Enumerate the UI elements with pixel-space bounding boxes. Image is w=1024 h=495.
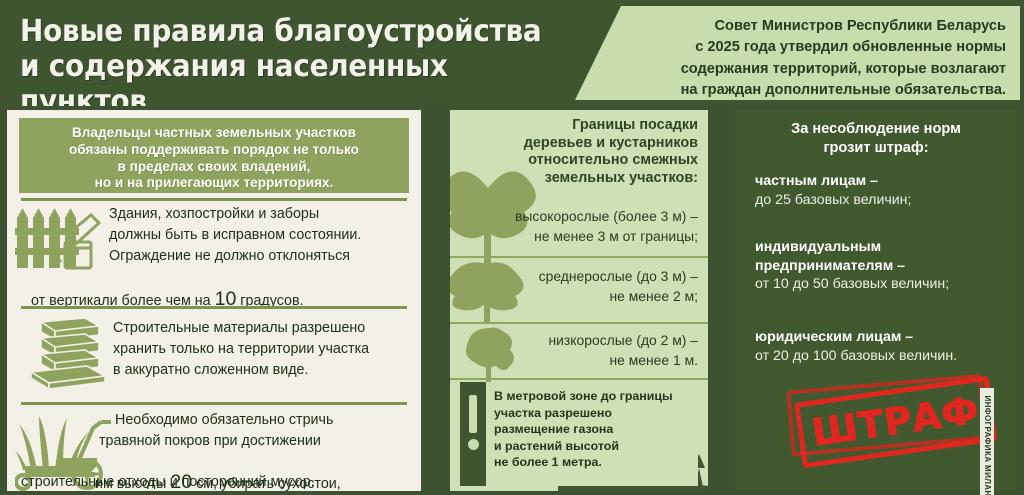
middle-divider-3 bbox=[450, 378, 708, 380]
header-note-panel: Совет Министров Республики Беларусь с 20… bbox=[575, 6, 1020, 100]
middle-row-medium: среднерослые (до 3 м) – не менее 2 м; bbox=[450, 258, 708, 320]
left-block-mower-line4: строительные отходы и посторонний мусор. bbox=[21, 472, 419, 493]
columns-container: Владельцы частных земельных участков обя… bbox=[0, 106, 1024, 495]
left-block-materials-text: Строительные материалы разрешено хранить… bbox=[113, 318, 413, 381]
penalty-item-legal: юридическим лицам – от 20 до 100 базовых… bbox=[755, 328, 1005, 366]
exclamation-dot bbox=[468, 439, 479, 450]
exclamation-stem bbox=[469, 395, 477, 433]
middle-row-small: низкорослые (до 2 м) – не менее 1 м. bbox=[450, 324, 708, 380]
penalty-label-private: частным лицам – bbox=[755, 172, 1005, 191]
divider-1 bbox=[21, 198, 407, 201]
penalty-item-entrepreneurs: индивидуальным предпринимателям – от 10 … bbox=[755, 238, 1005, 295]
middle-row-tall-text: высокорослые (более 3 м) – не менее 3 м … bbox=[498, 206, 698, 246]
penalty-value-entrepreneurs: от 10 до 50 базовых величин; bbox=[755, 275, 1005, 295]
penalties-heading: За несоблюдение норм грозит штраф: bbox=[735, 120, 1017, 157]
exclamation-icon bbox=[460, 382, 486, 486]
warning-text: В метровой зоне до границы участка разре… bbox=[494, 388, 694, 471]
divider-3 bbox=[21, 402, 407, 405]
penalty-item-private: частным лицам – до 25 базовых величин; bbox=[755, 172, 1005, 210]
penalty-label-legal: юридическим лицам – bbox=[755, 328, 1005, 347]
middle-row-small-text: низкорослые (до 2 м) – не менее 1 м. bbox=[498, 330, 698, 370]
middle-row-medium-text: среднерослые (до 3 м) – не менее 2 м; bbox=[498, 266, 698, 306]
credit-label: ИНФОГРАФИКА МИЛАНЫ БУХОВКИ bbox=[980, 388, 994, 495]
left-block-materials: Строительные материалы разрешено хранить… bbox=[15, 314, 413, 398]
left-lead-text: Владельцы частных земельных участков обя… bbox=[19, 125, 409, 192]
fence-paint-icon bbox=[15, 204, 103, 270]
middle-column: Границы посадки деревьев и кустарников о… bbox=[450, 110, 708, 491]
left-column: Владельцы частных земельных участков обя… bbox=[7, 110, 421, 491]
warning-box: В метровой зоне до границы участка разре… bbox=[460, 382, 698, 486]
left-block-fence: Здания, хозпостройки и заборы должны быт… bbox=[15, 204, 413, 304]
left-block-mower-line2: травяной покров при достижении bbox=[99, 431, 415, 452]
penalty-value-private: до 25 базовых величин; bbox=[755, 191, 1005, 211]
page-title: Новые правила благоустройства и содержан… bbox=[20, 14, 550, 106]
left-lead-box: Владельцы частных земельных участков обя… bbox=[19, 118, 409, 193]
header: Новые правила благоустройства и содержан… bbox=[0, 0, 1024, 106]
building-materials-pallet-icon bbox=[27, 316, 107, 392]
header-note-text: Совет Министров Республики Беларусь с 20… bbox=[606, 16, 1006, 102]
left-block-mower-line1: Необходимо обязательно стричь bbox=[115, 410, 415, 431]
left-block-fence-text: Здания, хозпостройки и заборы должны быт… bbox=[109, 204, 409, 267]
left-block-mower: Необходимо обязательно стричь травяной п… bbox=[11, 408, 417, 494]
infographic-page: Новые правила благоустройства и содержан… bbox=[0, 0, 1024, 495]
penalty-label-entrepreneurs: индивидуальным предпринимателям – bbox=[755, 238, 1005, 275]
penalty-value-legal: от 20 до 100 базовых величин. bbox=[755, 347, 1005, 367]
divider-2 bbox=[21, 306, 407, 309]
